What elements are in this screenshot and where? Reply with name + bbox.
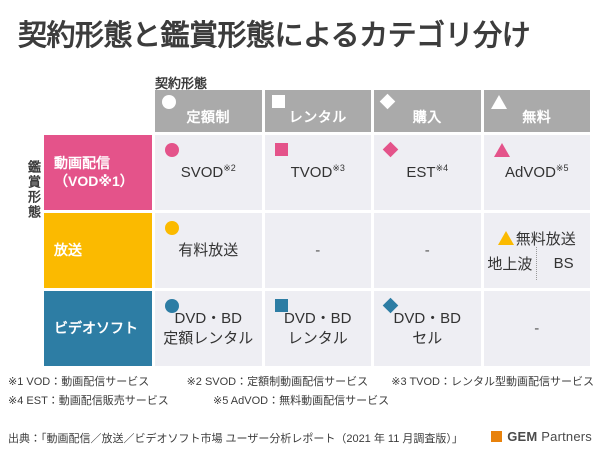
logo-text-regular: Partners [537, 429, 592, 444]
cell-broadcast-purchase: - [374, 213, 481, 288]
subtype-bs: BS [537, 255, 590, 272]
circle-icon [165, 221, 179, 235]
diamond-icon [380, 94, 396, 110]
source-note: 出典：「動画配信／放送／ビデオソフト市場 ユーザー分析レポート（2021 年 1… [8, 430, 463, 446]
logo-square-icon [491, 431, 502, 442]
page-title: 契約形態と鑑賞形態によるカテゴリ分け [18, 12, 530, 54]
triangle-icon [491, 95, 507, 109]
triangle-icon [498, 231, 514, 245]
row-axis-label: 鑑賞形態 [18, 160, 40, 220]
square-icon [272, 95, 285, 108]
cell-videosoft-free: - [484, 291, 591, 366]
footnotes: ※1 VOD：動画配信サービス ※2 SVOD：定額制動画配信サービス ※3 T… [8, 373, 594, 411]
cell-broadcast-free: 無料放送 地上波 BS [484, 213, 591, 288]
gem-partners-logo: GEM Partners [491, 429, 592, 444]
cell-vod-free: AdVOD※5 [484, 135, 591, 210]
row-header-vod: 動画配信 （VOD※1） [44, 135, 152, 210]
column-header-label-0: 定額制 [187, 107, 231, 127]
cell-videosoft-subscription: DVD・BD 定額レンタル [155, 291, 262, 366]
cell-broadcast-rental: - [265, 213, 372, 288]
column-header-label-1: レンタル [289, 107, 347, 127]
square-icon [275, 143, 288, 156]
footnote-4: ※4 EST：動画配信販売サービス [8, 392, 213, 408]
footnote-line-1: ※1 VOD：動画配信サービス ※2 SVOD：定額制動画配信サービス ※3 T… [8, 373, 594, 389]
cell-vod-purchase: EST※4 [374, 135, 481, 210]
row-header-videosoft: ビデオソフト [44, 291, 152, 366]
cell-label: EST※4 [402, 163, 452, 183]
free-broadcast-title: 無料放送 [498, 228, 576, 249]
cell-label: 無料放送 [516, 228, 576, 249]
row-header-broadcast: 放送 [44, 213, 152, 288]
cell-label: DVD・BD セル [389, 309, 465, 348]
cell-videosoft-purchase: DVD・BD セル [374, 291, 481, 366]
column-header-label-3: 無料 [522, 107, 551, 127]
cell-broadcast-subscription: 有料放送 [155, 213, 262, 288]
circle-icon [165, 299, 179, 313]
cell-vod-subscription: SVOD※2 [155, 135, 262, 210]
cell-label: SVOD※2 [177, 163, 240, 183]
cell-label: DVD・BD レンタル [280, 309, 356, 348]
cell-label: AdVOD※5 [501, 163, 572, 183]
triangle-icon [494, 143, 510, 157]
column-header-cell-2: 購入 [374, 90, 481, 132]
logo-text: GEM Partners [507, 429, 592, 444]
cell-label: DVD・BD 定額レンタル [159, 309, 257, 348]
cell-videosoft-rental: DVD・BD レンタル [265, 291, 372, 366]
cell-label: - [311, 241, 324, 261]
cell-label: TVOD※3 [287, 163, 349, 183]
footnote-3: ※3 TVOD：レンタル型動画配信サービス [391, 373, 594, 389]
footnote-line-2: ※4 EST：動画配信販売サービス ※5 AdVOD：無料動画配信サービス [8, 392, 594, 408]
footnote-2: ※2 SVOD：定額制動画配信サービス [187, 373, 392, 389]
circle-icon [165, 143, 179, 157]
cell-label: - [421, 241, 434, 261]
free-broadcast-subtypes: 地上波 BS [484, 253, 591, 274]
column-header-cell-3: 無料 [484, 90, 591, 132]
table-row: 動画配信 （VOD※1） SVOD※2 TVOD※3 EST※4 AdVOD※5 [44, 135, 590, 210]
table-row: ビデオソフト DVD・BD 定額レンタル DVD・BD レンタル DVD・BD … [44, 291, 590, 366]
diamond-icon [383, 142, 399, 158]
column-header-row: 定額制 レンタル 購入 無料 [155, 90, 590, 132]
logo-text-bold: GEM [507, 429, 537, 444]
column-header-label-2: 購入 [413, 107, 442, 127]
subtype-terrestrial: 地上波 [484, 253, 537, 274]
square-icon [275, 299, 288, 312]
table-row: 放送 有料放送 - - 無料放送 地上波 BS [44, 213, 590, 288]
column-header-cell-1: レンタル [265, 90, 372, 132]
category-matrix: 定額制 レンタル 購入 無料 動画配信 （VOD※1） SVOD※2 TVOD※… [44, 90, 590, 366]
circle-icon [162, 95, 176, 109]
footnote-5: ※5 AdVOD：無料動画配信サービス [213, 392, 448, 408]
matrix-body: 動画配信 （VOD※1） SVOD※2 TVOD※3 EST※4 AdVOD※5… [44, 135, 590, 366]
cell-vod-rental: TVOD※3 [265, 135, 372, 210]
cell-label: - [530, 319, 543, 339]
cell-label: 有料放送 [174, 241, 242, 261]
footnote-1: ※1 VOD：動画配信サービス [8, 373, 187, 389]
column-header-cell-0: 定額制 [155, 90, 262, 132]
